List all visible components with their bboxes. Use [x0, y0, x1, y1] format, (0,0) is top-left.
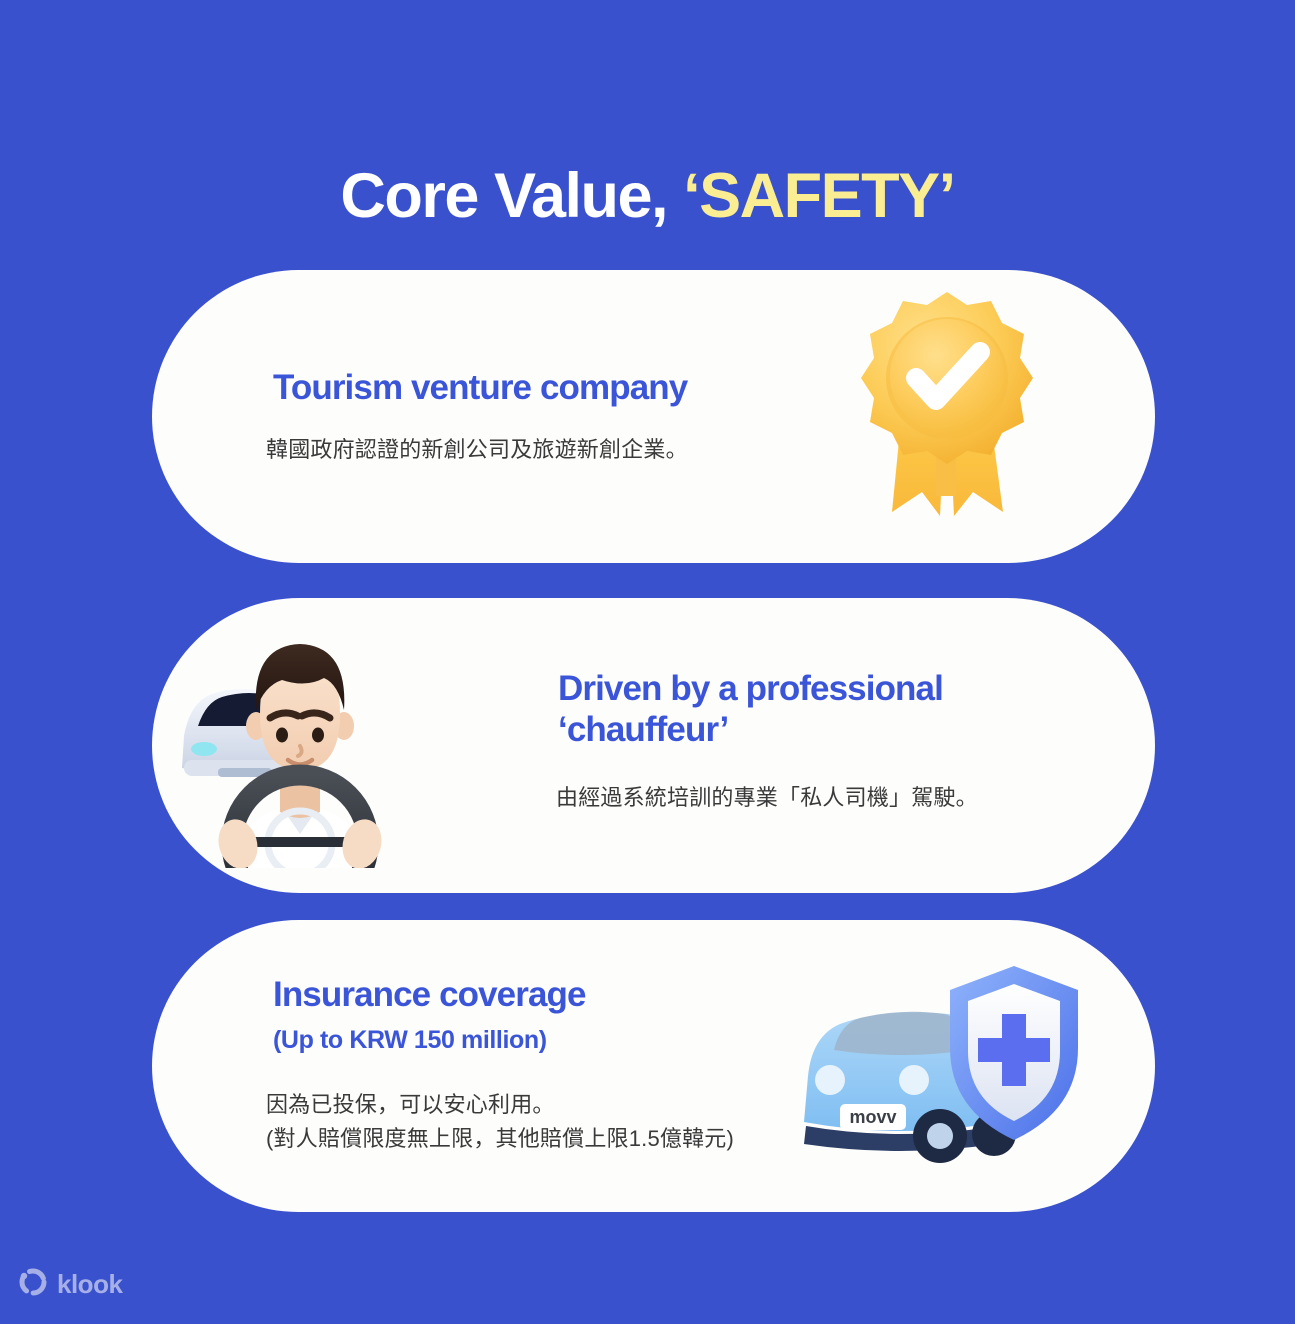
- page-title-accent: ‘SAFETY’: [683, 161, 955, 231]
- card-body-line: 韓國政府認證的新創公司及旅遊新創企業。: [266, 433, 688, 467]
- award-badge-check-icon: [840, 280, 1055, 525]
- card-heading: Insurance coverage: [273, 974, 586, 1015]
- card-heading: Tourism venture company: [273, 367, 687, 408]
- card-body: 因為已投保，可以安心利用。 (對人賠償限度無上限，其他賠償上限1.5億韓元): [266, 1088, 734, 1156]
- card-body-line: (對人賠償限度無上限，其他賠償上限1.5億韓元): [266, 1126, 734, 1151]
- card-heading: Driven by a professional ‘chauffeur’: [558, 668, 1078, 751]
- klook-watermark: klook: [18, 1267, 122, 1302]
- chauffeur-steering-wheel-icon: [172, 618, 427, 868]
- card-body-line: 由經過系統培訓的專業「私人司機」駕駛。: [556, 781, 978, 815]
- klook-logo-icon: [18, 1267, 48, 1302]
- page-title-main: Core Value,: [340, 161, 683, 231]
- card-body-line: 因為已投保，可以安心利用。: [266, 1092, 555, 1117]
- car-shield-insurance-icon: movv: [790, 958, 1090, 1173]
- card-subheading: (Up to KRW 150 million): [273, 1026, 547, 1055]
- feature-card-insurance-coverage: Insurance coverage (Up to KRW 150 millio…: [152, 920, 1155, 1212]
- feature-card-professional-chauffeur: Driven by a professional ‘chauffeur’ 由經過…: [152, 598, 1155, 893]
- klook-wordmark: klook: [57, 1269, 122, 1300]
- car-plate-text: movv: [849, 1107, 896, 1127]
- feature-card-tourism-venture: Tourism venture company 韓國政府認證的新創公司及旅遊新創…: [152, 270, 1155, 563]
- page-title: Core Value, ‘SAFETY’: [0, 160, 1295, 232]
